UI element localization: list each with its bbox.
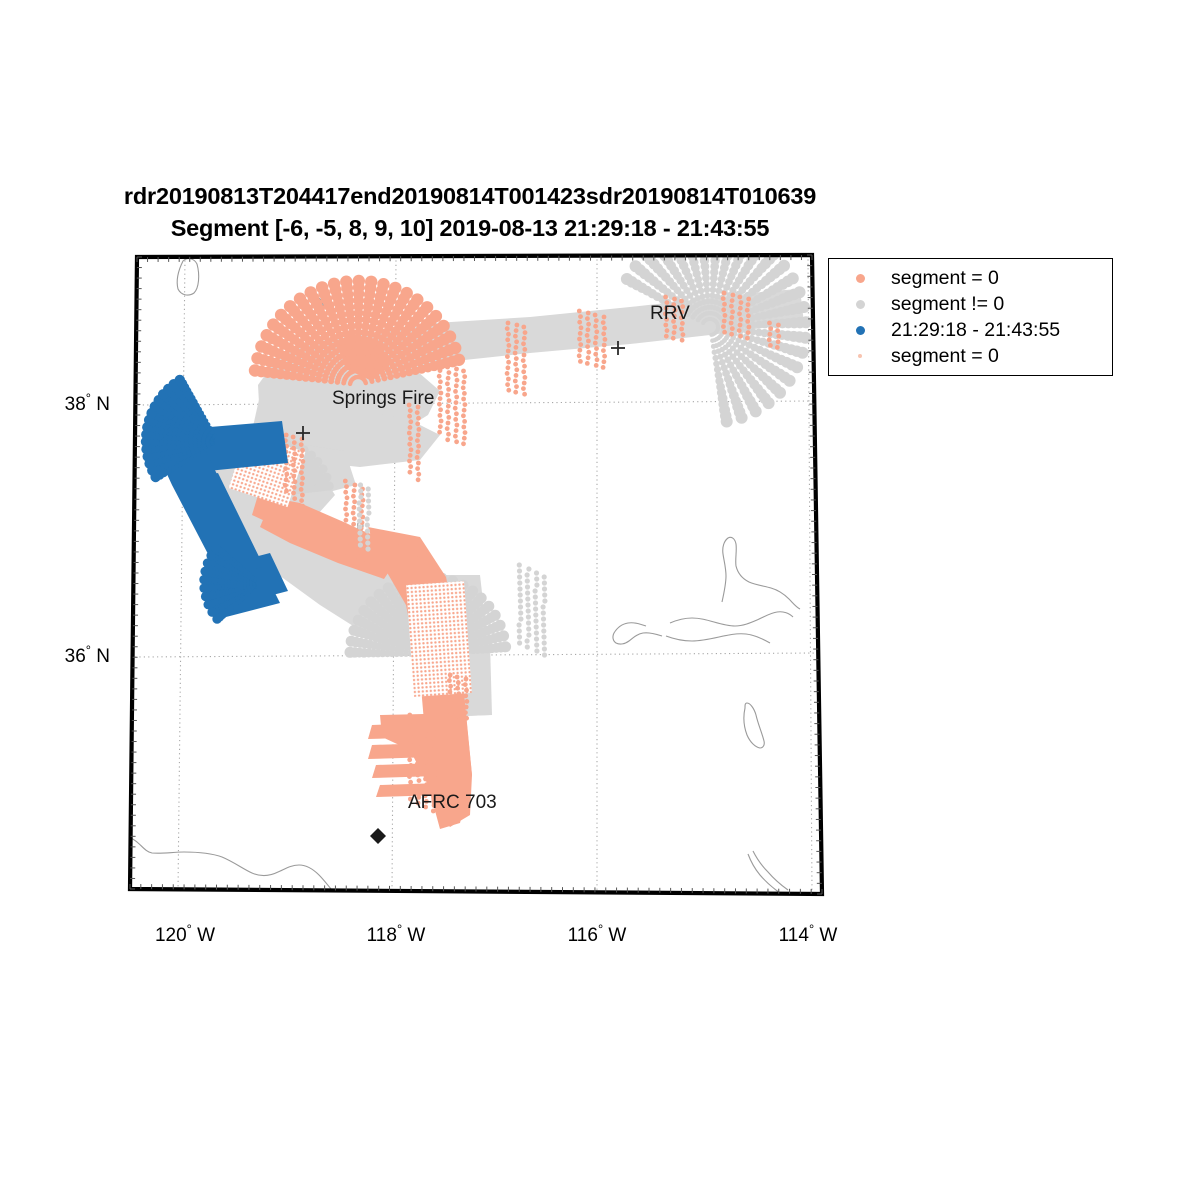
legend-row-segment-nonzero[interactable]: segment != 0 xyxy=(829,291,1112,317)
legend-label-segment-zero-small: segment = 0 xyxy=(891,345,999,368)
lat-tick-36N: 36° N xyxy=(52,646,110,668)
legend-row-time-range[interactable]: 21:29:18 - 21:43:55 xyxy=(829,317,1112,343)
afrc-703-label: AFRC 703 xyxy=(408,792,497,813)
chart-title-secondary: Segment [-6, -5, 8, 9, 10] 2019-08-13 21… xyxy=(0,217,940,241)
chart-legend[interactable]: segment = 0 segment != 0 21:29:18 - 21:4… xyxy=(828,258,1113,376)
map-plot-area[interactable]: Springs Fire RRV AFRC 703 xyxy=(110,245,840,910)
lat-tick-38N: 38° N xyxy=(52,394,110,416)
lon-tick-118W: 118° W xyxy=(336,925,456,947)
lon-tick-114W: 114° W xyxy=(748,925,868,947)
legend-marker-segment-zero xyxy=(829,274,891,283)
legend-row-segment-zero-small[interactable]: segment = 0 xyxy=(829,343,1112,369)
chart-title-block: rdr20190813T204417end20190814T001423sdr2… xyxy=(0,185,940,240)
legend-label-time-range: 21:29:18 - 21:43:55 xyxy=(891,319,1060,342)
legend-label-segment-zero: segment = 0 xyxy=(891,267,999,290)
legend-marker-time-range xyxy=(829,326,891,335)
legend-label-segment-nonzero: segment != 0 xyxy=(891,293,1004,316)
springs-fire-label: Springs Fire xyxy=(332,388,434,409)
legend-row-segment-zero[interactable]: segment = 0 xyxy=(829,265,1112,291)
map-panel[interactable]: Springs Fire RRV AFRC 703 xyxy=(110,245,840,910)
chart-title-primary: rdr20190813T204417end20190814T001423sdr2… xyxy=(0,185,940,209)
legend-marker-segment-zero-small xyxy=(829,354,891,358)
lon-tick-116W: 116° W xyxy=(537,925,657,947)
lon-tick-120W: 120° W xyxy=(125,925,245,947)
legend-marker-segment-nonzero xyxy=(829,300,891,309)
rrv-label: RRV xyxy=(650,303,690,324)
